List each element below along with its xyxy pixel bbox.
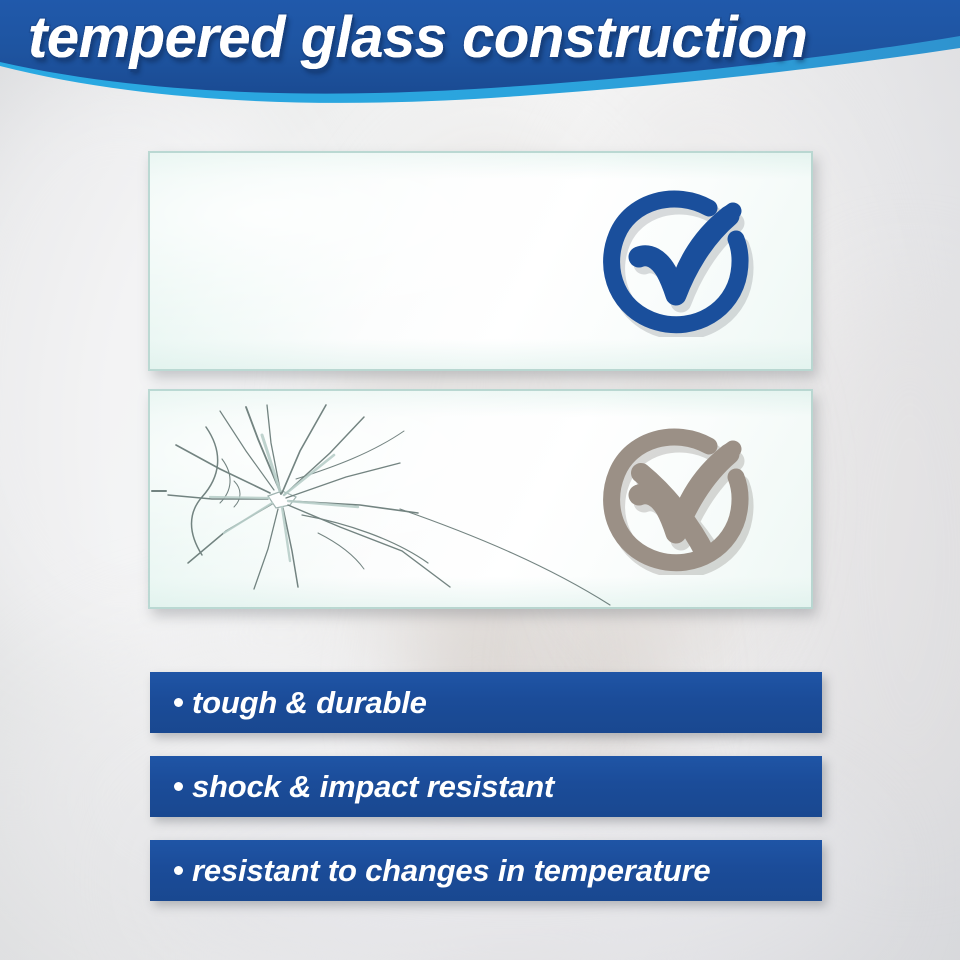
check-circle-icon xyxy=(601,187,769,337)
feature-bar-temperature-resistant[interactable]: resistant to changes in temperature xyxy=(150,840,822,901)
bullet-icon xyxy=(174,866,183,875)
feature-label: shock & impact resistant xyxy=(192,769,554,805)
feature-bar-tough-durable[interactable]: tough & durable xyxy=(150,672,822,733)
bullet-icon xyxy=(174,782,183,791)
infographic-canvas: tempered glass construction tempered gla… xyxy=(0,0,960,960)
feature-label: tough & durable xyxy=(192,685,427,721)
feature-label: resistant to changes in temperature xyxy=(192,853,710,889)
bullet-icon xyxy=(174,698,183,707)
header-banner: tempered glass construction tempered gla… xyxy=(0,0,960,112)
page-title: tempered glass construction xyxy=(28,9,948,67)
intact-glass-panel xyxy=(148,151,813,371)
broken-glass-panel xyxy=(148,389,813,609)
cross-circle-icon xyxy=(601,425,769,575)
feature-bar-shock-impact-resistant[interactable]: shock & impact resistant xyxy=(150,756,822,817)
